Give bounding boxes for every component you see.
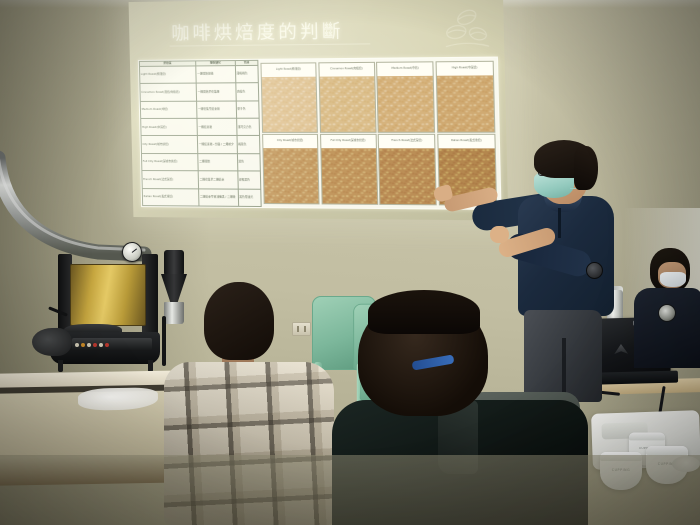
bean-color-cell: 黑色帶油光 bbox=[238, 189, 261, 207]
table-row: Light Roast(極淺焙)一爆開始前後淺褐褐色 bbox=[139, 65, 258, 83]
roast-level-cell: Full City Roast(深城市烘焙) bbox=[141, 153, 198, 171]
table-row: French Roast(法式深焙)二爆密集至二爆結束深褐黑色 bbox=[142, 171, 261, 189]
roaster-drum-housing bbox=[70, 264, 146, 326]
cyclone-inlet bbox=[164, 250, 184, 276]
crack-stage-cell: 一爆開始至密集爆 bbox=[196, 83, 236, 101]
roast-level-table: 烘焙度 爆裂變化 色澤 Light Roast(極淺焙)一爆開始前後淺褐褐色Ci… bbox=[139, 60, 262, 207]
bean-sample-cell: French Roast(法式深焙) bbox=[378, 134, 437, 205]
bean-sample-photo bbox=[437, 75, 494, 131]
face-mask bbox=[660, 272, 686, 287]
bean-sample-label: City Roast(城市烘焙) bbox=[263, 135, 317, 148]
bean-color-cell: 肉桂色 bbox=[236, 83, 259, 101]
table-row: Cinnamon Roast(淺焙/肉桂焙)一爆開始至密集爆肉桂色 bbox=[140, 83, 259, 101]
table-row: City Roast(城市烘焙)一爆結束後~分鐘 / 二爆前夕褐黑色 bbox=[141, 136, 260, 154]
roast-level-cell: Medium Roast(中焙) bbox=[140, 101, 197, 119]
roast-level-cell: High Roast(中深焙) bbox=[141, 118, 198, 136]
bean-color-cell: 褐黑色 bbox=[237, 136, 260, 154]
bean-sample-label: Cinnamon Roast(肉桂焙) bbox=[319, 63, 374, 77]
crack-stage-cell: 二爆密集至二爆結束 bbox=[198, 171, 238, 189]
roast-level-cell: City Roast(城市烘焙) bbox=[141, 136, 198, 154]
floor bbox=[0, 455, 700, 525]
wristwatch bbox=[586, 262, 603, 279]
table-row: High Roast(中深焙)一爆結束後淺巧克力色 bbox=[141, 118, 260, 136]
roast-level-cell: Light Roast(極淺焙) bbox=[139, 66, 196, 84]
bean-sample-photo bbox=[321, 148, 377, 203]
table-row: Medium Roast(中焙)一爆密集至結束前栗子色 bbox=[140, 101, 259, 119]
bean-sample-cell: High Roast(中深焙) bbox=[435, 61, 495, 133]
control-knob[interactable] bbox=[81, 343, 85, 347]
bean-color-cell: 淺褐褐色 bbox=[235, 65, 258, 83]
control-knob[interactable] bbox=[93, 343, 97, 347]
coffee-beans-motif-icon bbox=[438, 2, 495, 55]
bean-sample-label: Medium Roast(中焙) bbox=[377, 62, 433, 76]
student-hair bbox=[368, 290, 480, 334]
bean-sample-photo bbox=[263, 148, 318, 203]
bean-sample-cell: City Roast(城市烘焙) bbox=[262, 134, 320, 204]
bean-color-cell: 栗子色 bbox=[236, 101, 259, 119]
bean-color-cell: 淺巧克力色 bbox=[236, 118, 259, 136]
bean-sample-cell: Light Roast(極淺焙) bbox=[260, 62, 318, 132]
bean-sample-label: High Roast(中深焙) bbox=[436, 62, 492, 76]
bean-sample-photo bbox=[378, 76, 435, 132]
bean-sample-photo bbox=[379, 149, 436, 205]
control-knob[interactable] bbox=[99, 343, 103, 347]
control-knob[interactable] bbox=[75, 343, 79, 347]
projected-slide: 咖啡烘焙度的判斷 烘焙度 爆裂變化 色澤 bbox=[129, 0, 509, 221]
crack-stage-cell: 一爆開始前後 bbox=[196, 65, 236, 83]
bean-sample-label: Light Roast(極淺焙) bbox=[261, 63, 315, 77]
shoulder-badge bbox=[658, 304, 676, 322]
bean-sample-photo bbox=[262, 77, 317, 132]
crack-stage-cell: 二爆結束至冒油轉黑 / 二爆後 bbox=[199, 188, 239, 206]
roaster-control-panel[interactable] bbox=[72, 338, 152, 351]
crack-stage-cell: 二爆開始 bbox=[198, 153, 238, 171]
cup-rim bbox=[646, 446, 688, 455]
roaster-drum-face bbox=[32, 328, 72, 356]
instructor-hand-2 bbox=[490, 226, 509, 243]
bean-sample-grid: Light Roast(極淺焙)Cinnamon Roast(肉桂焙)Mediu… bbox=[260, 61, 497, 206]
roast-level-cell: Italian Roast(義式重焙) bbox=[142, 188, 199, 206]
classroom-scene: 咖啡烘焙度的判斷 烘焙度 爆裂變化 色澤 bbox=[0, 0, 700, 525]
crack-stage-cell: 一爆結束後 bbox=[197, 118, 237, 136]
roast-level-cell: Cinnamon Roast(淺焙/肉桂焙) bbox=[140, 83, 197, 101]
crack-stage-cell: 一爆結束後~分鐘 / 二爆前夕 bbox=[198, 136, 238, 154]
slide-title: 咖啡烘焙度的判斷 bbox=[171, 17, 344, 46]
bean-sample-photo bbox=[319, 76, 375, 131]
table-row: Italian Roast(義式重焙)二爆結束至冒油轉黑 / 二爆後黑色帶油光 bbox=[142, 188, 261, 206]
bean-sample-label: Full City Roast(深城市烘焙) bbox=[321, 135, 376, 148]
bean-sample-cell: Cinnamon Roast(肉桂焙) bbox=[318, 62, 376, 133]
roaster-leg bbox=[58, 360, 63, 372]
temperature-gauge-icon bbox=[122, 242, 142, 262]
instructor-placket bbox=[558, 208, 561, 238]
cup-rim bbox=[629, 433, 665, 441]
bean-sample-label: French Roast(法式深焙) bbox=[379, 135, 435, 148]
bean-sample-cell: Medium Roast(中焙) bbox=[376, 61, 435, 132]
table-row: Full City Roast(深城市烘焙)二爆開始黑色 bbox=[141, 153, 260, 171]
bean-color-cell: 深褐黑色 bbox=[238, 171, 261, 189]
control-knob[interactable] bbox=[105, 343, 109, 347]
bean-color-cell: 黑色 bbox=[237, 153, 260, 171]
instructor-hair-side bbox=[574, 146, 598, 190]
bean-sample-cell: Full City Roast(深城市烘焙) bbox=[320, 134, 378, 205]
crack-stage-cell: 一爆密集至結束前 bbox=[197, 101, 237, 119]
roast-level-cell: French Roast(法式深焙) bbox=[142, 171, 199, 189]
student-hair bbox=[204, 282, 274, 360]
control-knob[interactable] bbox=[87, 343, 91, 347]
